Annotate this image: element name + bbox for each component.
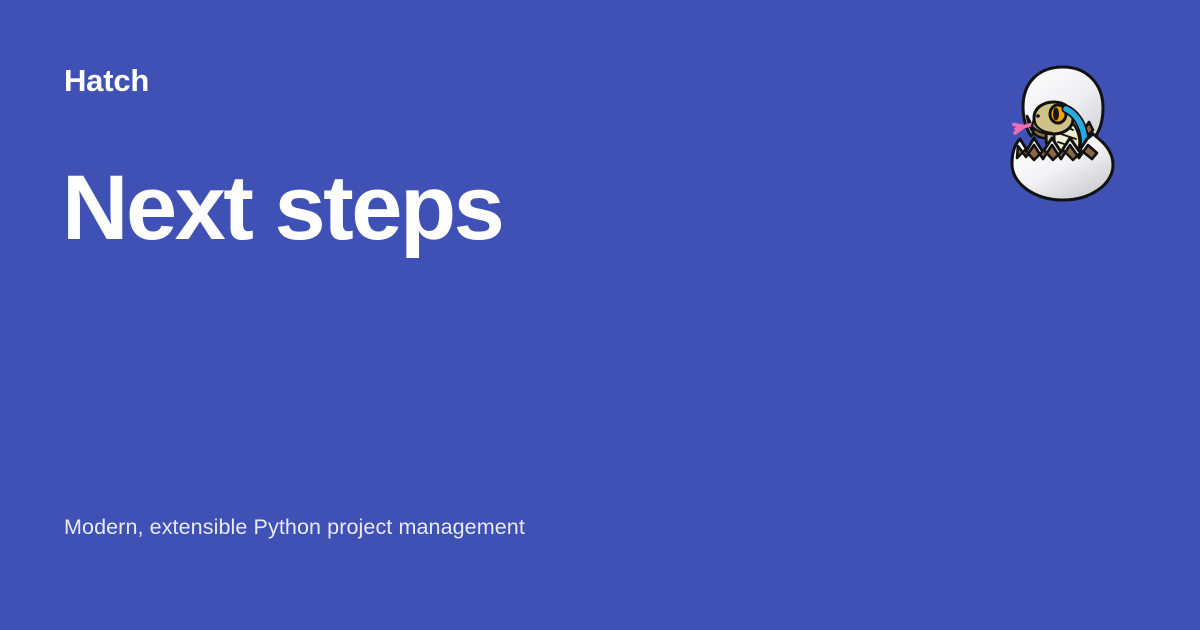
tagline: Modern, extensible Python project manage… (64, 514, 525, 542)
page-title: Next steps (62, 162, 502, 254)
social-card: Hatch Next steps Modern, extensible Pyth… (0, 0, 1200, 630)
brand-title: Hatch (64, 64, 149, 98)
hatch-egg-logo (1003, 60, 1123, 205)
hatch-egg-logo-graphic (1003, 60, 1123, 205)
